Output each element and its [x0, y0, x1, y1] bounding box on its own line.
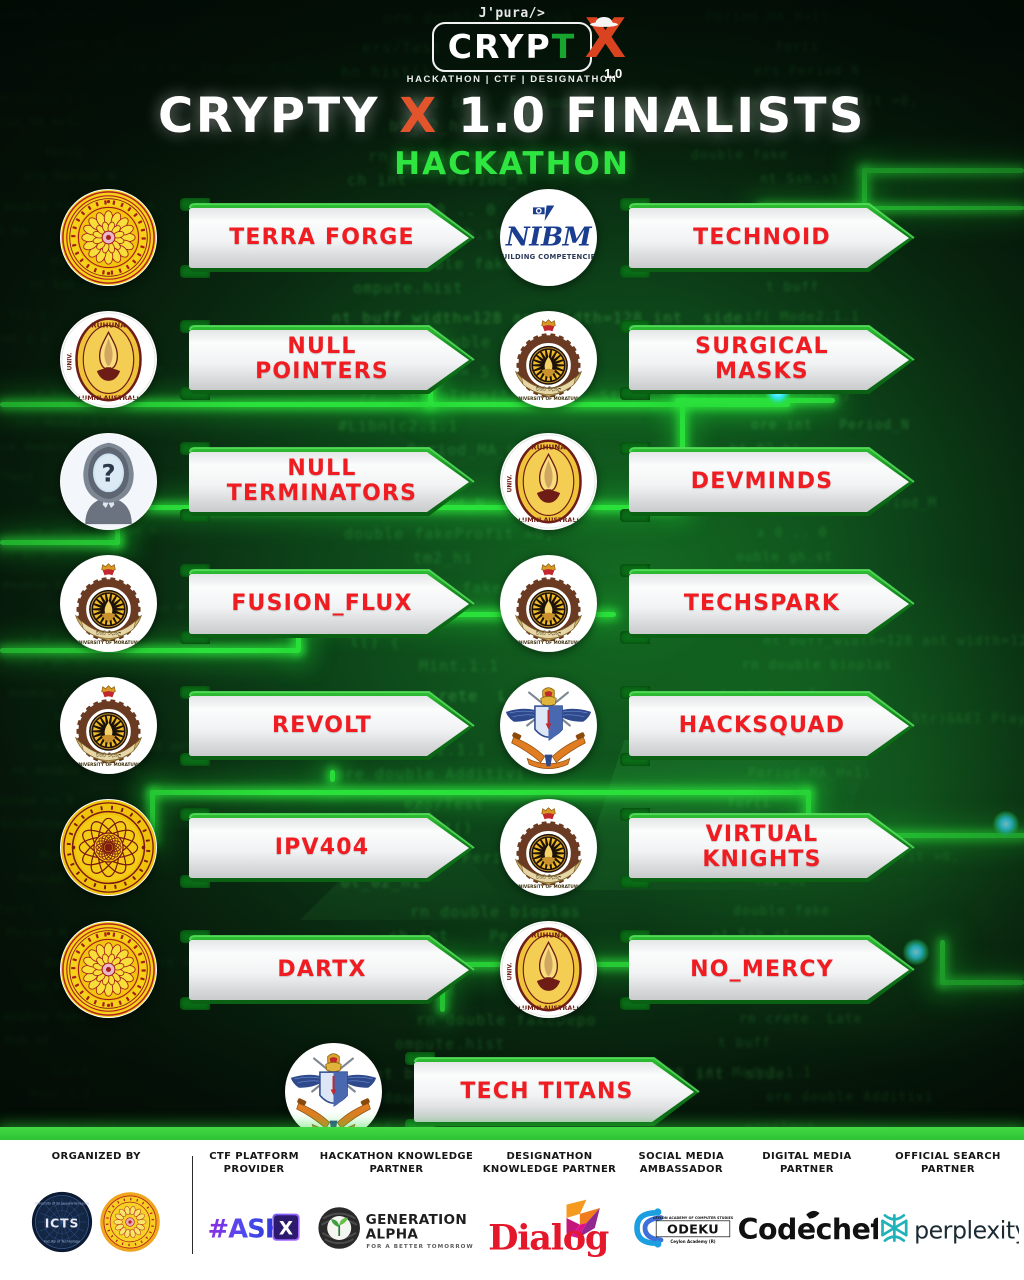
- svg-text:perplexity: perplexity: [914, 1216, 1019, 1244]
- svg-text:Dialog: Dialog: [489, 1218, 610, 1258]
- svg-text:X: X: [279, 1218, 293, 1239]
- sponsor-block: DESIGNATHON KNOWLEDGE PARTNER Dialog: [478, 1140, 620, 1280]
- team-banner[interactable]: NULLPOINTERS: [180, 320, 476, 400]
- team-entry[interactable]: RUHUNA ALUMNI AUSTRALIA UNIV.: [500, 420, 960, 542]
- team-name-label: FUSION_FLUX: [214, 564, 430, 644]
- finalists-row: ?: [0, 420, 1024, 542]
- moratuwa-crest-icon: විශ්ව විද්‍යාල UNIVERSITY OF MORATUWA: [500, 311, 597, 408]
- ruhuna-alumni-icon: RUHUNA ALUMNI AUSTRALIA UNIV.: [500, 921, 597, 1018]
- team-entry[interactable]: විශ්ව විද්‍යාල UNIVERSITY OF MORATUWA: [60, 542, 500, 664]
- svg-text:CEYLON ACADEMY OF COMPUTER STU: CEYLON ACADEMY OF COMPUTER STUDIES: [653, 1216, 733, 1220]
- svg-text:විශ්ව විද්‍යාල: විශ්ව විද්‍යාල: [96, 630, 122, 636]
- team-banner[interactable]: TECHNOID: [620, 198, 916, 278]
- svg-text:ALPHA: ALPHA: [366, 1226, 419, 1242]
- team-entry[interactable]: TERRA FORGE: [60, 176, 500, 298]
- sjp-seal-icon: [60, 921, 157, 1018]
- svg-text:ICTS: ICTS: [45, 1215, 80, 1230]
- icts-logo-icon: ICTS University of Sri Jayewardenepura F…: [31, 1191, 93, 1253]
- team-entry[interactable]: DARTX: [60, 908, 500, 1030]
- team-name-label: NULLPOINTERS: [214, 320, 430, 400]
- sponsor-title: HACKATHON KNOWLEDGE PARTNER: [315, 1151, 479, 1176]
- team-banner[interactable]: FUSION_FLUX: [180, 564, 476, 644]
- kdu-crest-icon: [285, 1043, 382, 1140]
- sjp-seal-icon: [99, 1191, 161, 1253]
- sponsor-logos[interactable]: GENERATION ALPHA FOR A BETTER TOMORROW: [316, 1176, 476, 1280]
- finalists-row: විශ්ව විද්‍යාල UNIVERSITY OF MORATUWA: [0, 664, 1024, 786]
- team-name-label: REVOLT: [214, 686, 430, 766]
- ruhuna-alumni-icon: RUHUNA ALUMNI AUSTRALIA UNIV.: [60, 311, 157, 408]
- sponsor-title: SOCIAL MEDIA AMBASSADOR: [621, 1151, 742, 1176]
- svg-text:UNIVERSITY OF MORATUWA: UNIVERSITY OF MORATUWA: [515, 396, 582, 402]
- svg-text:UNIV.: UNIV.: [508, 963, 514, 981]
- perplexity-logo-icon: perplexity: [877, 1206, 1019, 1250]
- svg-text:විශ්ව විද්‍යාල: විශ්ව විද්‍යාල: [96, 752, 122, 758]
- anonymous-hacker-icon: ?: [60, 433, 157, 530]
- svg-text:UNIV.: UNIV.: [68, 353, 74, 371]
- svg-text:විශ්ව විද්‍යාල: විශ්ව විද්‍යාල: [536, 874, 562, 880]
- logo-word-pre: CRYP: [448, 27, 552, 66]
- team-name-label: DARTX: [214, 930, 430, 1010]
- team-name-label: TECHNOID: [654, 198, 870, 278]
- team-banner[interactable]: REVOLT: [180, 686, 476, 766]
- svg-text:UNIVERSITY OF MORATUWA: UNIVERSITY OF MORATUWA: [515, 640, 582, 646]
- page-title: CRYPTY X 1.0 FINALISTS HACKATHON: [0, 88, 1024, 182]
- sponsor-logos[interactable]: Dialog: [486, 1176, 612, 1280]
- team-name-label: DEVMINDS: [654, 442, 870, 522]
- footer-green-divider: [0, 1127, 1024, 1140]
- title-x: X: [399, 88, 439, 144]
- dialog-logo-icon: Dialog: [486, 1198, 612, 1258]
- logo-tagline: HACKATHON | CTF | DESIGNATHON: [0, 74, 1024, 85]
- moratuwa-crest-icon: විශ්ව විද්‍යාල UNIVERSITY OF MORATUWA: [60, 555, 157, 652]
- title-finalists: FINALISTS: [565, 88, 866, 144]
- sponsor-title: OFFICIAL SEARCH PARTNER: [872, 1151, 1024, 1176]
- sponsor-block: OFFICIAL SEARCH PARTNER perplexity: [872, 1140, 1024, 1280]
- event-logo: J'pura/> CRYPT X 1.0 HACKATHON | CTF | D…: [0, 6, 1024, 88]
- ashx-logo-icon: #ASH X: [206, 1208, 302, 1248]
- team-banner[interactable]: NULLTERMINATORS: [180, 442, 476, 522]
- team-banner[interactable]: SURGICALMASKS: [620, 320, 916, 400]
- svg-text:Ceylon Academy (R): Ceylon Academy (R): [671, 1239, 716, 1244]
- team-entry[interactable]: විශ්ව විද්‍යාල UNIVERSITY OF MORATUWA: [500, 542, 960, 664]
- codeku-logo-icon: ODEKU CEYLON ACADEMY OF COMPUTER STUDIES…: [629, 1203, 733, 1253]
- team-banner[interactable]: TECHSPARK: [620, 564, 916, 644]
- sjp-seal-icon: [60, 189, 157, 286]
- finalists-row: TERRA FORGE NIBM BUILDING COMPETENCIES: [0, 176, 1024, 298]
- team-name-label: NULLTERMINATORS: [214, 442, 430, 522]
- logo-word-t: T: [552, 27, 577, 66]
- svg-text:RUHUNA: RUHUNA: [531, 930, 566, 939]
- team-banner[interactable]: VIRTUALKNIGHTS: [620, 808, 916, 888]
- sponsor-logos[interactable]: perplexity: [877, 1176, 1019, 1280]
- finalists-row: විශ්ව විද්‍යාල UNIVERSITY OF MORATUWA: [0, 542, 1024, 664]
- sponsor-title: DIGITAL MEDIA PARTNER: [742, 1151, 872, 1176]
- svg-text:ALUMNI AUSTRALIA: ALUMNI AUSTRALIA: [513, 516, 584, 524]
- codechefs-logo-icon: Codechefs: [736, 1206, 878, 1250]
- sponsor-block: DIGITAL MEDIA PARTNER Codechefs: [742, 1140, 872, 1280]
- svg-text:UNIVERSITY OF MORATUWA: UNIVERSITY OF MORATUWA: [75, 640, 142, 646]
- team-entry[interactable]: IPV404: [60, 786, 500, 908]
- team-name-label: NO_MERCY: [654, 930, 870, 1010]
- finalists-grid: TERRA FORGE NIBM BUILDING COMPETENCIES: [0, 176, 1024, 1152]
- svg-text:ALUMNI AUSTRALIA: ALUMNI AUSTRALIA: [513, 1004, 584, 1012]
- team-entry[interactable]: HACKSQUAD: [500, 664, 960, 786]
- team-entry[interactable]: විශ්ව විද්‍යාල UNIVERSITY OF MORATUWA: [500, 298, 960, 420]
- logo-jpura-text: J'pura/>: [0, 6, 1024, 21]
- sponsor-block: HACKATHON KNOWLEDGE PARTNER GENERATION A…: [315, 1140, 479, 1280]
- logo-version: 1.0: [604, 66, 622, 81]
- moratuwa-crest-icon: විශ්ව විද්‍යාල UNIVERSITY OF MORATUWA: [500, 799, 597, 896]
- svg-text:ODEKU: ODEKU: [667, 1223, 719, 1238]
- sponsor-logos[interactable]: ICTS University of Sri Jayewardenepura F…: [31, 1164, 161, 1280]
- team-name-label: IPV404: [214, 808, 430, 888]
- svg-text:විශ්ව විද්‍යාල: විශ්ව විද්‍යාල: [536, 386, 562, 392]
- team-banner[interactable]: IPV404: [180, 808, 476, 888]
- finalists-row: DARTX RUHUNA ALUMNI AUSTRALIA UNIV.: [0, 908, 1024, 1030]
- team-banner[interactable]: TERRA FORGE: [180, 198, 476, 278]
- title-line-1: CRYPTY X 1.0 FINALISTS: [0, 88, 1024, 144]
- svg-text:UNIV.: UNIV.: [508, 475, 514, 493]
- svg-text:FOR A BETTER TOMORROW: FOR A BETTER TOMORROW: [367, 1244, 474, 1250]
- team-banner[interactable]: HACKSQUAD: [620, 686, 916, 766]
- sponsor-title: CTF PLATFORM PROVIDER: [193, 1151, 314, 1176]
- team-entry[interactable]: විශ්ව විද්‍යාල UNIVERSITY OF MORATUWA: [500, 786, 960, 908]
- svg-text:UNIVERSITY OF MORATUWA: UNIVERSITY OF MORATUWA: [515, 884, 582, 890]
- sponsor-logos[interactable]: ODEKU CEYLON ACADEMY OF COMPUTER STUDIES…: [629, 1176, 733, 1280]
- svg-text:?: ?: [101, 459, 115, 488]
- kdu-crest-icon: [500, 677, 597, 774]
- logo-lockup: CRYPT X 1.0: [432, 22, 592, 72]
- team-entry[interactable]: RUHUNA ALUMNI AUSTRALIA UNIV.: [500, 908, 960, 1030]
- team-banner[interactable]: DARTX: [180, 930, 476, 1010]
- finalists-row: IPV404 විශ්ව විද්‍යාල UN: [0, 786, 1024, 908]
- svg-text:GENERATION: GENERATION: [366, 1212, 468, 1228]
- sponsor-block: SOCIAL MEDIA AMBASSADOR ODEKU CEYLON ACA…: [621, 1140, 742, 1280]
- team-entry[interactable]: විශ්ව විද්‍යාල UNIVERSITY OF MORATUWA: [60, 664, 500, 786]
- title-version: 1.0: [458, 88, 546, 144]
- logo-x-mark: X: [585, 12, 627, 66]
- team-name-label: TECHSPARK: [654, 564, 870, 644]
- finalists-row: RUHUNA ALUMNI AUSTRALIA UNIV.: [0, 298, 1024, 420]
- team-name-label: VIRTUALKNIGHTS: [654, 808, 870, 888]
- sponsor-title: DESIGNATHON KNOWLEDGE PARTNER: [478, 1151, 620, 1176]
- sponsor-title: ORGANIZED BY: [52, 1151, 141, 1164]
- team-name-label: TECH TITANS: [439, 1052, 655, 1132]
- ruhuna-alumni-icon: RUHUNA ALUMNI AUSTRALIA UNIV.: [500, 433, 597, 530]
- cowboy-hat-icon: [589, 16, 619, 27]
- team-entry[interactable]: ?: [60, 420, 500, 542]
- nibm-logo-icon: NIBM BUILDING COMPETENCIES: [500, 189, 597, 286]
- sponsor-logos[interactable]: #ASH X: [206, 1176, 302, 1280]
- svg-text:විශ්ව විද්‍යාල: විශ්ව විද්‍යාල: [536, 630, 562, 636]
- svg-text:RUHUNA: RUHUNA: [91, 320, 126, 329]
- moratuwa-crest-icon: විශ්ව විද්‍යාල UNIVERSITY OF MORATUWA: [500, 555, 597, 652]
- svg-text:UNIVERSITY OF MORATUWA: UNIVERSITY OF MORATUWA: [75, 762, 142, 768]
- moratuwa-crest-icon: විශ්ව විද්‍යාල UNIVERSITY OF MORATUWA: [60, 677, 157, 774]
- team-entry[interactable]: NIBM BUILDING COMPETENCIES: [500, 176, 960, 298]
- svg-text:BUILDING COMPETENCIES: BUILDING COMPETENCIES: [500, 253, 597, 261]
- team-banner[interactable]: NO_MERCY: [620, 930, 916, 1010]
- svg-text:RUHUNA: RUHUNA: [531, 442, 566, 451]
- title-crypty: CRYPTY: [158, 88, 380, 144]
- sponsor-logos[interactable]: Codechefs: [736, 1176, 878, 1280]
- svg-text:NIBM: NIBM: [505, 221, 593, 252]
- svg-text:University of Sri Jayewardenep: University of Sri Jayewardenepura: [35, 1201, 89, 1205]
- svg-text:Faculty of Technology: Faculty of Technology: [44, 1239, 80, 1243]
- sponsors-footer: ORGANIZED BY ICTS University of Sri Jaye…: [0, 1140, 1024, 1280]
- logo-wordmark-box: CRYPT: [432, 22, 592, 72]
- team-name-label: SURGICALMASKS: [654, 320, 870, 400]
- team-banner[interactable]: DEVMINDS: [620, 442, 916, 522]
- svg-text:ALUMNI AUSTRALIA: ALUMNI AUSTRALIA: [73, 394, 144, 402]
- team-name-label: HACKSQUAD: [654, 686, 870, 766]
- sponsor-block: ORGANIZED BY ICTS University of Sri Jaye…: [0, 1140, 192, 1280]
- team-entry[interactable]: RUHUNA ALUMNI AUSTRALIA UNIV.: [60, 298, 500, 420]
- team-banner[interactable]: TECH TITANS: [405, 1052, 701, 1132]
- team-name-label: TERRA FORGE: [214, 198, 430, 278]
- kelaniya-seal-icon: [60, 799, 157, 896]
- generation-alpha-logo-icon: GENERATION ALPHA FOR A BETTER TOMORROW: [316, 1202, 476, 1254]
- svg-text:Codechefs: Codechefs: [738, 1213, 878, 1246]
- sponsor-block: CTF PLATFORM PROVIDER #ASH X: [193, 1140, 314, 1280]
